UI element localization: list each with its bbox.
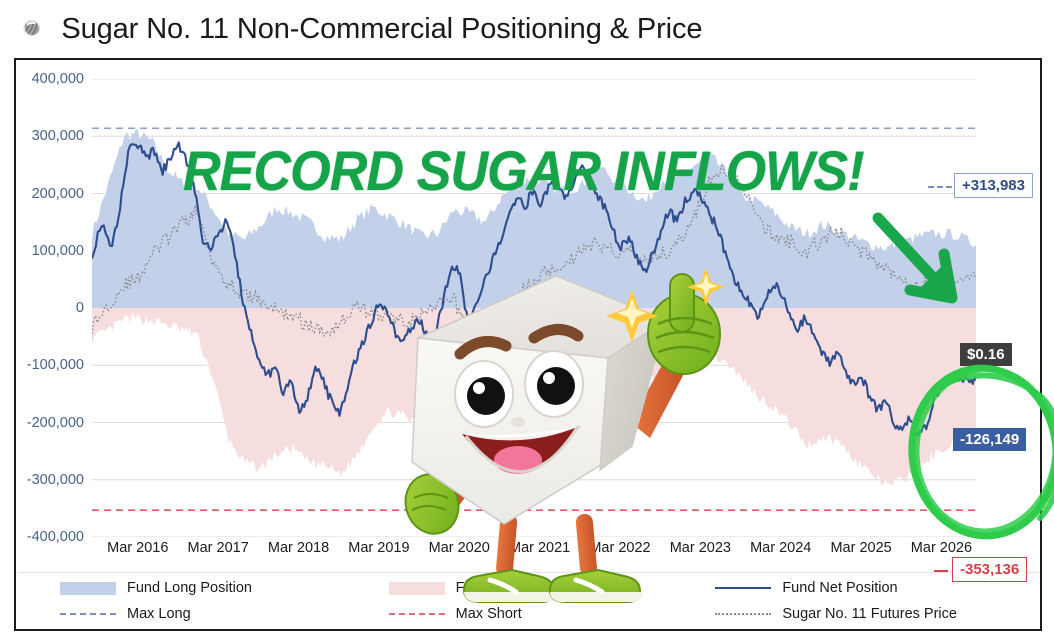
y-axis: 400,000300,000200,000100,0000-100,000-20… bbox=[16, 79, 92, 537]
x-axis-tick: Mar 2023 bbox=[670, 540, 731, 556]
y-axis-tick: 400,000 bbox=[16, 71, 92, 87]
x-axis-tick: Mar 2026 bbox=[911, 540, 972, 556]
y-axis-tick: -100,000 bbox=[16, 357, 92, 373]
price-callout: $0.16 bbox=[960, 343, 1012, 366]
legend-swatch bbox=[60, 613, 116, 615]
legend-label: Fund Short Position bbox=[456, 580, 583, 596]
headline-annotation: RECORD SUGAR INFLOWS! bbox=[183, 138, 864, 203]
x-axis-tick: Mar 2022 bbox=[589, 540, 650, 556]
x-axis-tick: Mar 2025 bbox=[830, 540, 891, 556]
legend-label: Fund Long Position bbox=[127, 580, 252, 596]
max-long-callout: +313,983 bbox=[954, 173, 1033, 198]
legend-label: Sugar No. 11 Futures Price bbox=[782, 606, 957, 622]
x-axis-tick: Mar 2024 bbox=[750, 540, 811, 556]
y-axis-tick: 300,000 bbox=[16, 128, 92, 144]
legend-swatch bbox=[389, 582, 445, 595]
legend-swatch bbox=[715, 613, 771, 615]
chart-frame: 400,000300,000200,000100,0000-100,000-20… bbox=[14, 58, 1042, 631]
candy-icon: 🍬 bbox=[14, 14, 51, 44]
net-position-callout: -126,149 bbox=[953, 428, 1026, 451]
y-axis-tick: -400,000 bbox=[16, 529, 92, 545]
x-axis-tick: Mar 2016 bbox=[107, 540, 168, 556]
legend-item: Max Long bbox=[18, 606, 359, 622]
page-title-text: Sugar No. 11 Non-Commercial Positioning … bbox=[61, 13, 702, 46]
x-axis-tick: Mar 2018 bbox=[268, 540, 329, 556]
max-short-callout: -353,136 bbox=[952, 557, 1027, 582]
y-axis-tick: -300,000 bbox=[16, 472, 92, 488]
y-axis-tick: 200,000 bbox=[16, 186, 92, 202]
x-axis-tick: Mar 2017 bbox=[188, 540, 249, 556]
chart-legend: Fund Long PositionFund Short PositionFun… bbox=[18, 572, 1040, 629]
legend-swatch bbox=[715, 587, 771, 589]
x-axis: Mar 2016Mar 2017Mar 2018Mar 2019Mar 2020… bbox=[92, 540, 976, 566]
chart-page: 🍬 Sugar No. 11 Non-Commercial Positionin… bbox=[0, 0, 1054, 643]
x-axis-tick: Mar 2019 bbox=[348, 540, 409, 556]
max-long-leader-line bbox=[928, 186, 952, 188]
y-axis-tick: 0 bbox=[16, 300, 92, 316]
y-axis-tick: -200,000 bbox=[16, 415, 92, 431]
legend-item: Fund Short Position bbox=[359, 580, 700, 596]
legend-item: Fund Net Position bbox=[699, 580, 1040, 596]
legend-label: Fund Net Position bbox=[782, 580, 897, 596]
legend-item: Sugar No. 11 Futures Price bbox=[699, 606, 1040, 622]
legend-swatch bbox=[389, 613, 445, 615]
y-axis-tick: 100,000 bbox=[16, 243, 92, 259]
max-short-leader-line bbox=[934, 570, 948, 572]
legend-label: Max Long bbox=[127, 606, 191, 622]
legend-item: Max Short bbox=[359, 606, 700, 622]
page-title: 🍬 Sugar No. 11 Non-Commercial Positionin… bbox=[0, 0, 1054, 58]
legend-swatch bbox=[60, 582, 116, 595]
legend-item: Fund Long Position bbox=[18, 580, 359, 596]
legend-label: Max Short bbox=[456, 606, 522, 622]
x-axis-tick: Mar 2020 bbox=[429, 540, 490, 556]
x-axis-tick: Mar 2021 bbox=[509, 540, 570, 556]
